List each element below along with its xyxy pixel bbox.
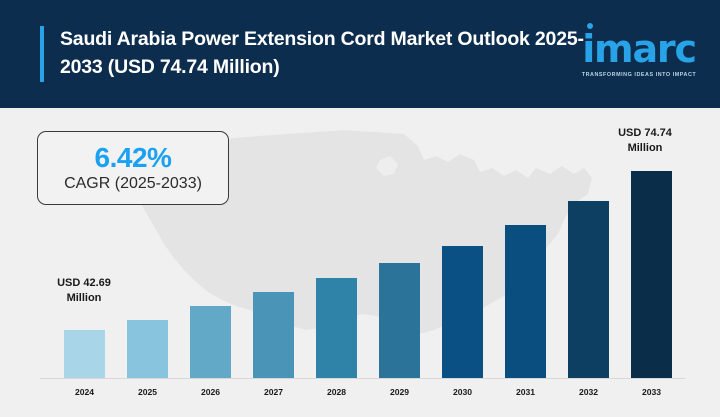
tick-label-2032: 2032 — [568, 387, 609, 397]
callout-last-value: USD 74.74 Million — [594, 126, 696, 155]
header-banner: Saudi Arabia Power Extension Cord Market… — [0, 0, 720, 108]
tick-label-2027: 2027 — [253, 387, 294, 397]
title-accent-bar — [40, 26, 44, 82]
cagr-label: CAGR (2025-2033) — [64, 174, 202, 193]
tick-label-2031: 2031 — [505, 387, 546, 397]
tick-label-2028: 2028 — [316, 387, 357, 397]
bar-2031 — [505, 225, 546, 378]
logo-tagline: TRANSFORMING IDEAS INTO IMPACT — [580, 72, 698, 78]
logo-text: imarc — [582, 27, 696, 71]
infographic-page: Saudi Arabia Power Extension Cord Market… — [0, 0, 720, 417]
bar-2027 — [253, 292, 294, 378]
imarc-logo: imarc TRANSFORMING IDEAS INTO IMPACT — [580, 30, 698, 78]
callout-first-value: USD 42.69 Million — [33, 276, 135, 305]
bar-2025 — [127, 320, 168, 378]
logo-wordmark: imarc — [580, 30, 698, 68]
tick-label-2033: 2033 — [631, 387, 672, 397]
tick-label-2029: 2029 — [379, 387, 420, 397]
tick-label-2024: 2024 — [64, 387, 105, 397]
bar-2033 — [631, 171, 672, 378]
bar-2026 — [190, 306, 231, 378]
tick-label-2030: 2030 — [442, 387, 483, 397]
bar-2028 — [316, 278, 357, 378]
tick-label-2026: 2026 — [190, 387, 231, 397]
cagr-value: 6.42% — [95, 143, 172, 172]
logo-dot-icon — [587, 23, 593, 29]
bar-2024 — [64, 330, 105, 378]
bar-2032 — [568, 201, 609, 378]
bar-2030 — [442, 246, 483, 378]
tick-label-2025: 2025 — [127, 387, 168, 397]
bar-2029 — [379, 263, 420, 378]
page-title: Saudi Arabia Power Extension Cord Market… — [60, 26, 600, 81]
cagr-badge: 6.42% CAGR (2025-2033) — [37, 131, 229, 205]
